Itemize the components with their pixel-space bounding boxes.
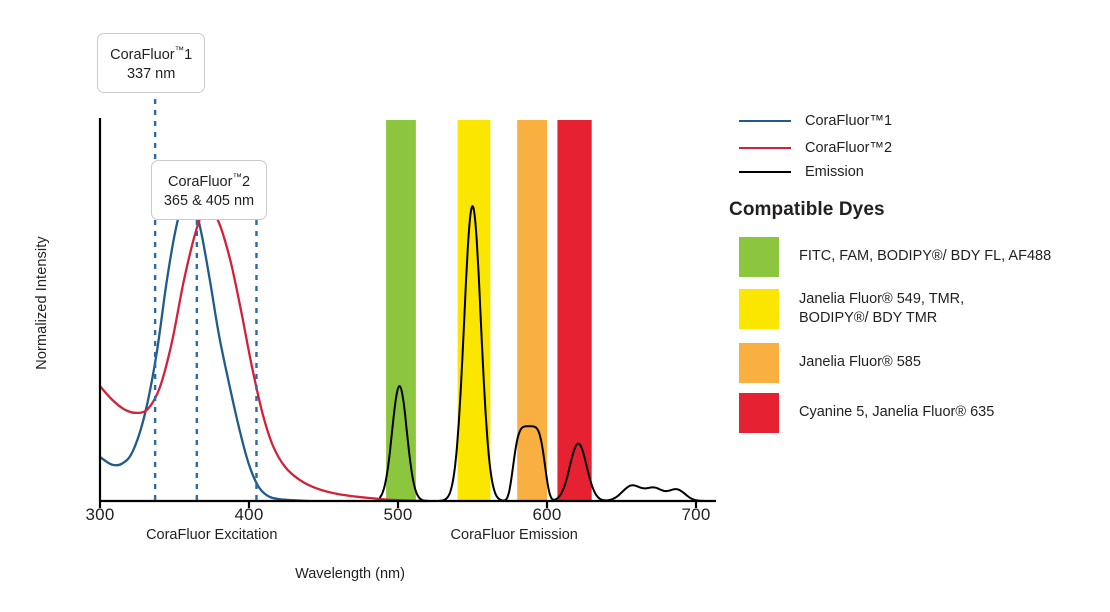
dye-label: Janelia Fluor® 549, TMR,BODIPY®/ BDY TMR	[799, 289, 964, 328]
callout-2-name: CoraFluor™2	[164, 168, 254, 192]
x-axis-title: Wavelength (nm)	[230, 566, 470, 582]
y-axis-label: Normalized Intensity	[34, 203, 50, 403]
callout-corafluor-1: CoraFluor™1 337 nm	[97, 33, 205, 93]
dye-item-orange: Janelia Fluor® 585	[739, 343, 921, 383]
color-swatch	[739, 237, 779, 277]
dye-item-red: Cyanine 5, Janelia Fluor® 635	[739, 393, 994, 433]
legend-line-icon	[739, 171, 791, 173]
emission-region-label: CoraFluor Emission	[404, 527, 624, 543]
callout-2-value: 365 & 405 nm	[164, 192, 254, 211]
color-swatch	[739, 343, 779, 383]
dye-label: FITC, FAM, BODIPY®/ BDY FL, AF488	[799, 237, 1051, 266]
dye-item-yellow: Janelia Fluor® 549, TMR,BODIPY®/ BDY TMR	[739, 289, 964, 329]
plot-area: Normalized Intensity 300 400 500 600 700…	[0, 0, 730, 612]
chart-page: Normalized Intensity 300 400 500 600 700…	[0, 0, 1110, 612]
legend-panel: CoraFluor™1 CoraFluor™2 Emission Compati…	[729, 0, 1110, 612]
color-swatch	[739, 289, 779, 329]
compatible-dyes-heading: Compatible Dyes	[729, 199, 885, 221]
x-tick-300: 300	[70, 505, 130, 525]
legend-label: CoraFluor™2	[805, 140, 892, 156]
dye-item-green: FITC, FAM, BODIPY®/ BDY FL, AF488	[739, 237, 1051, 277]
legend-line-icon	[739, 120, 791, 122]
x-tick-700: 700	[666, 505, 726, 525]
callout-corafluor-2: CoraFluor™2 365 & 405 nm	[151, 160, 267, 220]
x-tick-400: 400	[219, 505, 279, 525]
dye-label: Janelia Fluor® 585	[799, 343, 921, 372]
callout-1-value: 337 nm	[110, 65, 192, 84]
legend-item-corafluor-1: CoraFluor™1	[739, 113, 892, 129]
color-swatch	[739, 393, 779, 433]
excitation-region-label: CoraFluor Excitation	[102, 527, 322, 543]
legend-line-icon	[739, 147, 791, 149]
legend-item-corafluor-2: CoraFluor™2	[739, 140, 892, 156]
legend-item-emission: Emission	[739, 164, 864, 180]
callout-1-name: CoraFluor™1	[110, 41, 192, 65]
x-tick-500: 500	[368, 505, 428, 525]
x-tick-600: 600	[517, 505, 577, 525]
legend-label: CoraFluor™1	[805, 113, 892, 129]
legend-label: Emission	[805, 164, 864, 180]
dye-label: Cyanine 5, Janelia Fluor® 635	[799, 393, 994, 422]
